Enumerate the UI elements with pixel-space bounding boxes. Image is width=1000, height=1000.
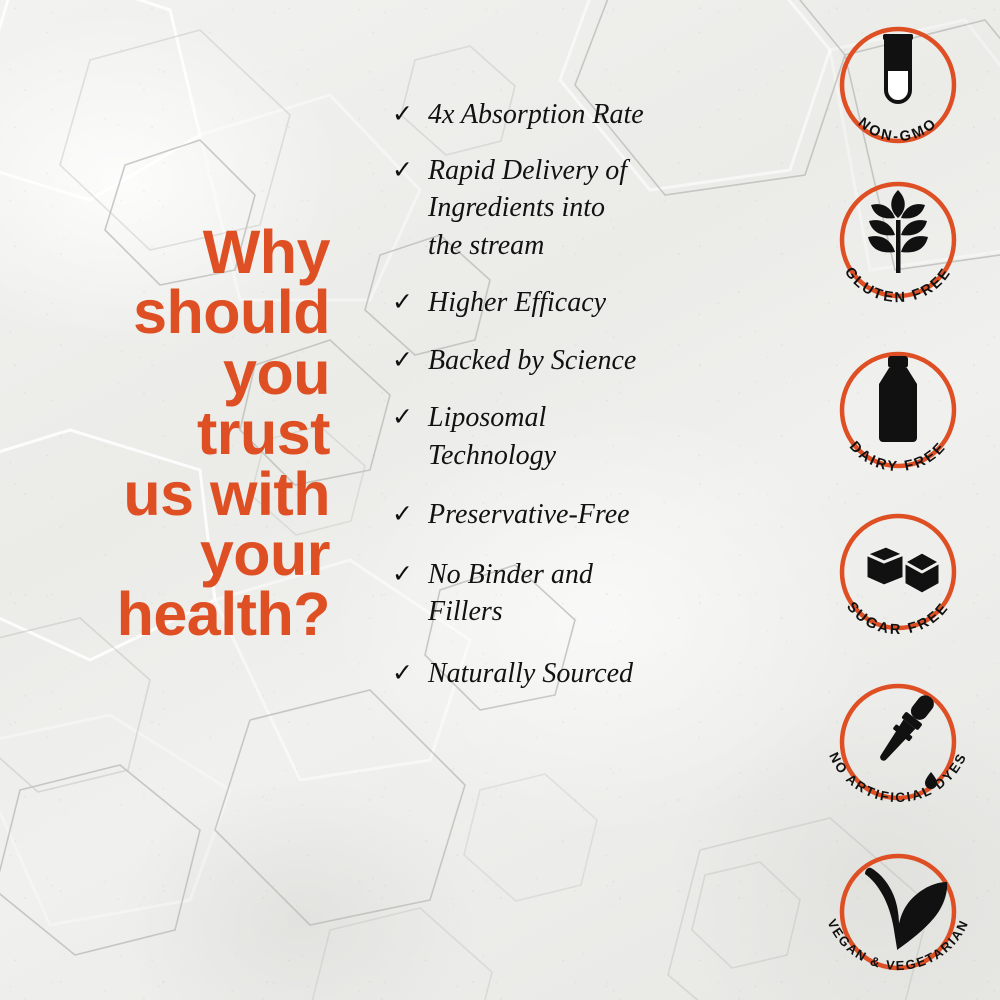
list-item: ✓ No Binder and Fillers — [392, 556, 722, 631]
badge-dairy-free: DAIRY FREE — [818, 330, 978, 490]
badge-sugar-free: SUGAR FREE — [818, 492, 978, 652]
badge-gluten-free: GLUTEN FREE — [818, 160, 978, 320]
badge-no-artificial-dyes: NO ARTIFICIAL DYES — [818, 662, 978, 822]
list-item-label: No Binder and Fillers — [428, 556, 593, 631]
badge-label: NON-GMO — [855, 115, 941, 145]
sugar-cubes-icon — [866, 546, 940, 594]
leaf-sprout-icon — [865, 868, 947, 950]
badge-label: SUGAR FREE — [843, 599, 953, 638]
check-icon: ✓ — [392, 152, 428, 187]
badge-label: NO ARTIFICIAL DYES — [826, 750, 970, 805]
list-item-label: Higher Efficacy — [428, 284, 606, 322]
list-item: ✓ Preservative-Free — [392, 496, 722, 534]
badge-non-gmo: NON-GMO — [818, 5, 978, 165]
list-item: ✓ 4x Absorption Rate — [392, 96, 722, 134]
check-icon: ✓ — [392, 655, 428, 690]
list-item-label: Naturally Sourced — [428, 655, 633, 693]
list-item-label: Backed by Science — [428, 342, 636, 380]
check-icon: ✓ — [392, 96, 428, 131]
test-tube-icon — [883, 34, 913, 102]
badge-vegan-vegetarian: VEGAN & VEGETARIAN — [818, 832, 978, 992]
check-icon: ✓ — [392, 399, 428, 434]
check-icon: ✓ — [392, 496, 428, 531]
dropper-icon — [873, 691, 938, 789]
list-item-label: Preservative-Free — [428, 496, 630, 534]
list-item-label: Liposomal Technology — [428, 399, 556, 474]
list-item: ✓ Naturally Sourced — [392, 655, 722, 693]
list-item: ✓ Rapid Delivery of Ingredients into the… — [392, 152, 722, 265]
check-icon: ✓ — [392, 284, 428, 319]
poster-canvas: Why should you trust us with your health… — [0, 0, 1000, 1000]
badge-label: DAIRY FREE — [846, 439, 950, 476]
list-item-label: Rapid Delivery of Ingredients into the s… — [428, 152, 627, 265]
milk-bottle-icon — [879, 356, 917, 442]
list-item-label: 4x Absorption Rate — [428, 96, 644, 134]
wheat-stalk-icon — [868, 190, 928, 273]
check-icon: ✓ — [392, 342, 428, 377]
benefits-list: ✓ 4x Absorption Rate ✓ Rapid Delivery of… — [392, 96, 722, 710]
list-item: ✓ Backed by Science — [392, 342, 722, 380]
list-item: ✓ Liposomal Technology — [392, 399, 722, 474]
check-icon: ✓ — [392, 556, 428, 591]
page-headline: Why should you trust us with your health… — [30, 222, 330, 645]
list-item: ✓ Higher Efficacy — [392, 284, 722, 322]
